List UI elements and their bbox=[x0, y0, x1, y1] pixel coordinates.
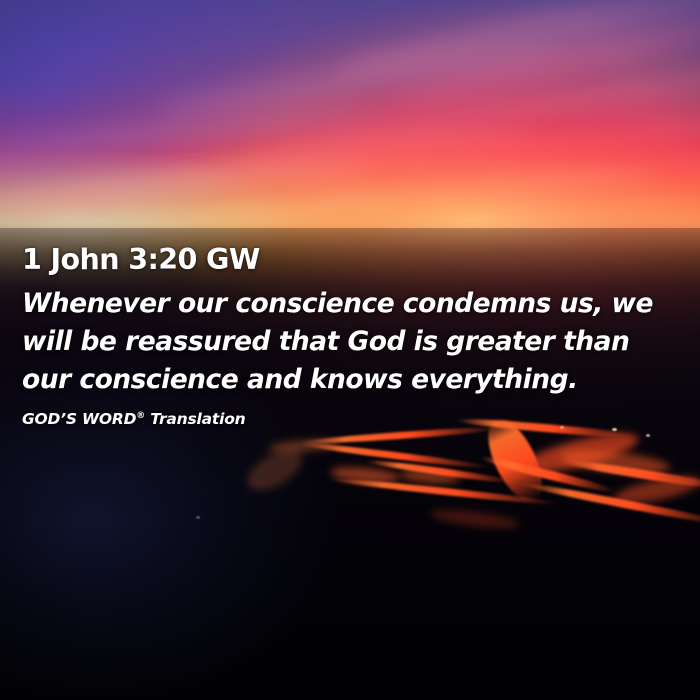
cloud-streak bbox=[10, 192, 130, 210]
translation-suffix-text: Translation bbox=[145, 410, 245, 428]
cloud-streak bbox=[331, 0, 700, 86]
cloud-streak bbox=[251, 61, 700, 163]
verse-text-block: 1 John 3:20 GW Whenever our conscience c… bbox=[22, 243, 682, 429]
verse-reference: 1 John 3:20 GW bbox=[22, 243, 682, 277]
cloud-streak bbox=[150, 37, 570, 121]
translation-name-text: GOD’S WORD bbox=[22, 410, 136, 428]
cloud-streak bbox=[200, 162, 659, 228]
cloud-streak bbox=[61, 121, 540, 199]
translation-attribution: GOD’S WORD® Translation bbox=[22, 409, 682, 429]
bible-verse-card: 1 John 3:20 GW Whenever our conscience c… bbox=[0, 0, 700, 700]
verse-body-text: Whenever our conscience condemns us, we … bbox=[22, 285, 667, 399]
registered-trademark-icon: ® bbox=[136, 411, 145, 421]
cloud-streak bbox=[301, 111, 700, 191]
cloud-streak bbox=[420, 198, 700, 228]
cloud-streak bbox=[382, 0, 700, 117]
cloud-streak bbox=[0, 161, 370, 214]
cloud-streak bbox=[0, 98, 390, 165]
